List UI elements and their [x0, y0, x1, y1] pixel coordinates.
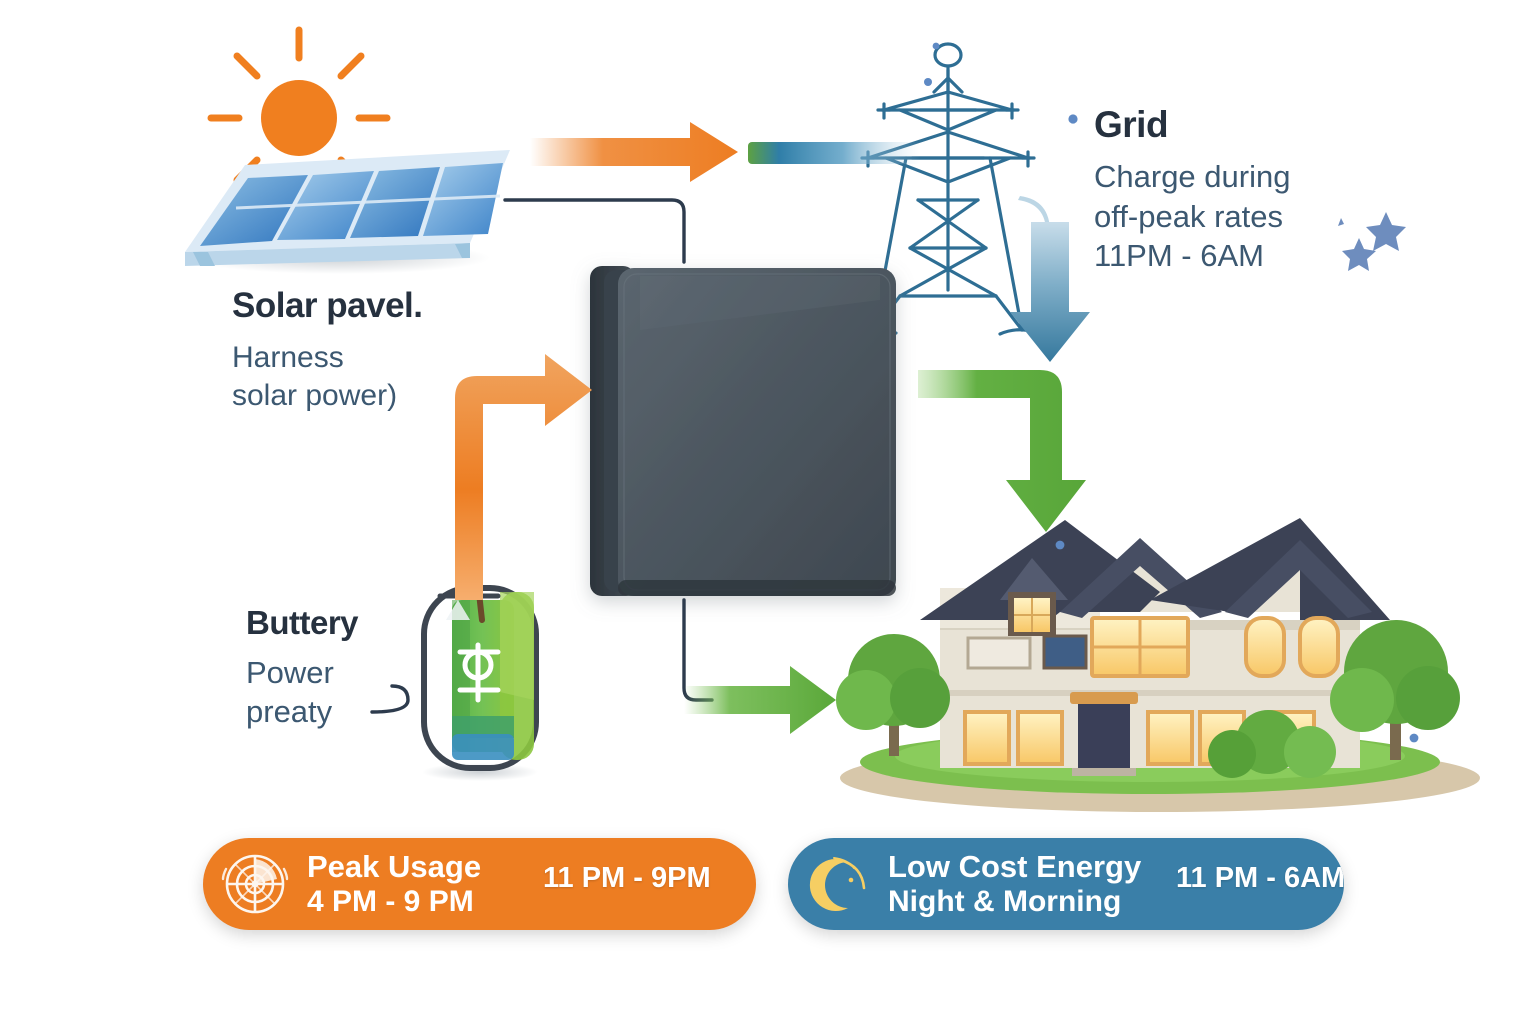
low-cost-energy-main: Low Cost Energy — [888, 851, 1141, 883]
peak-usage-sub: 4 PM - 9 PM — [307, 886, 481, 918]
flow-arrow-grid-down — [1010, 196, 1090, 362]
solar-connector-line — [505, 200, 684, 262]
peak-usage-time: 11 PM - 9PM — [543, 862, 711, 895]
dot-5 — [1056, 541, 1065, 550]
house-icon — [836, 518, 1480, 812]
battery-label-connector — [372, 686, 408, 712]
peak-usage-main: Peak Usage — [307, 851, 481, 883]
solar-panel-icon — [185, 150, 510, 274]
grid-subtitle: Charge during off-peak rates 11PM - 6AM — [1094, 157, 1290, 276]
unit-connector-line — [684, 600, 712, 700]
grid-label-group: Grid Charge during off-peak rates 11PM -… — [1094, 106, 1290, 276]
moon-icon — [788, 838, 888, 930]
star-large — [1366, 212, 1406, 251]
low-cost-energy-pill[interactable]: Low Cost Energy Night & Morning 11 PM - … — [788, 838, 1344, 930]
solar-subtitle: Harness solar power) — [232, 339, 422, 416]
solar-title: Solar pavel. — [232, 288, 422, 325]
decorative-stars — [1338, 212, 1406, 271]
star-small — [1342, 238, 1376, 271]
dot-1 — [1338, 218, 1344, 226]
battery-label-group: Buttery Power preaty — [246, 606, 358, 732]
flow-arrow-battery-to-unit — [455, 354, 592, 600]
grid-title: Grid — [1094, 106, 1290, 145]
battery-subtitle: Power preaty — [246, 653, 358, 732]
low-cost-energy-sub: Night & Morning — [888, 886, 1141, 918]
infographic-canvas: Solar pavel. Harness solar power) Grid C… — [0, 0, 1536, 1024]
low-cost-energy-time: 11 PM - 6AM — [1176, 862, 1344, 895]
home-battery-unit-icon — [590, 266, 896, 596]
gauge-icon — [203, 838, 307, 930]
dot-4 — [1068, 114, 1077, 123]
peak-usage-pill[interactable]: Peak Usage 4 PM - 9 PM 11 PM - 9PM — [203, 838, 756, 930]
battery-cell-icon — [422, 584, 538, 781]
flow-arrow-unit-to-house-top — [918, 370, 1086, 532]
flow-arrow-unit-to-house-bottom — [684, 666, 836, 734]
dot-6 — [1410, 734, 1419, 743]
dot-3 — [924, 78, 932, 86]
solar-label-group: Solar pavel. Harness solar power) — [232, 288, 422, 416]
battery-title: Buttery — [246, 606, 358, 641]
grid-feed-bar — [748, 142, 920, 164]
flow-arrow-solar-to-grid — [530, 122, 738, 182]
dot-2 — [933, 43, 940, 50]
